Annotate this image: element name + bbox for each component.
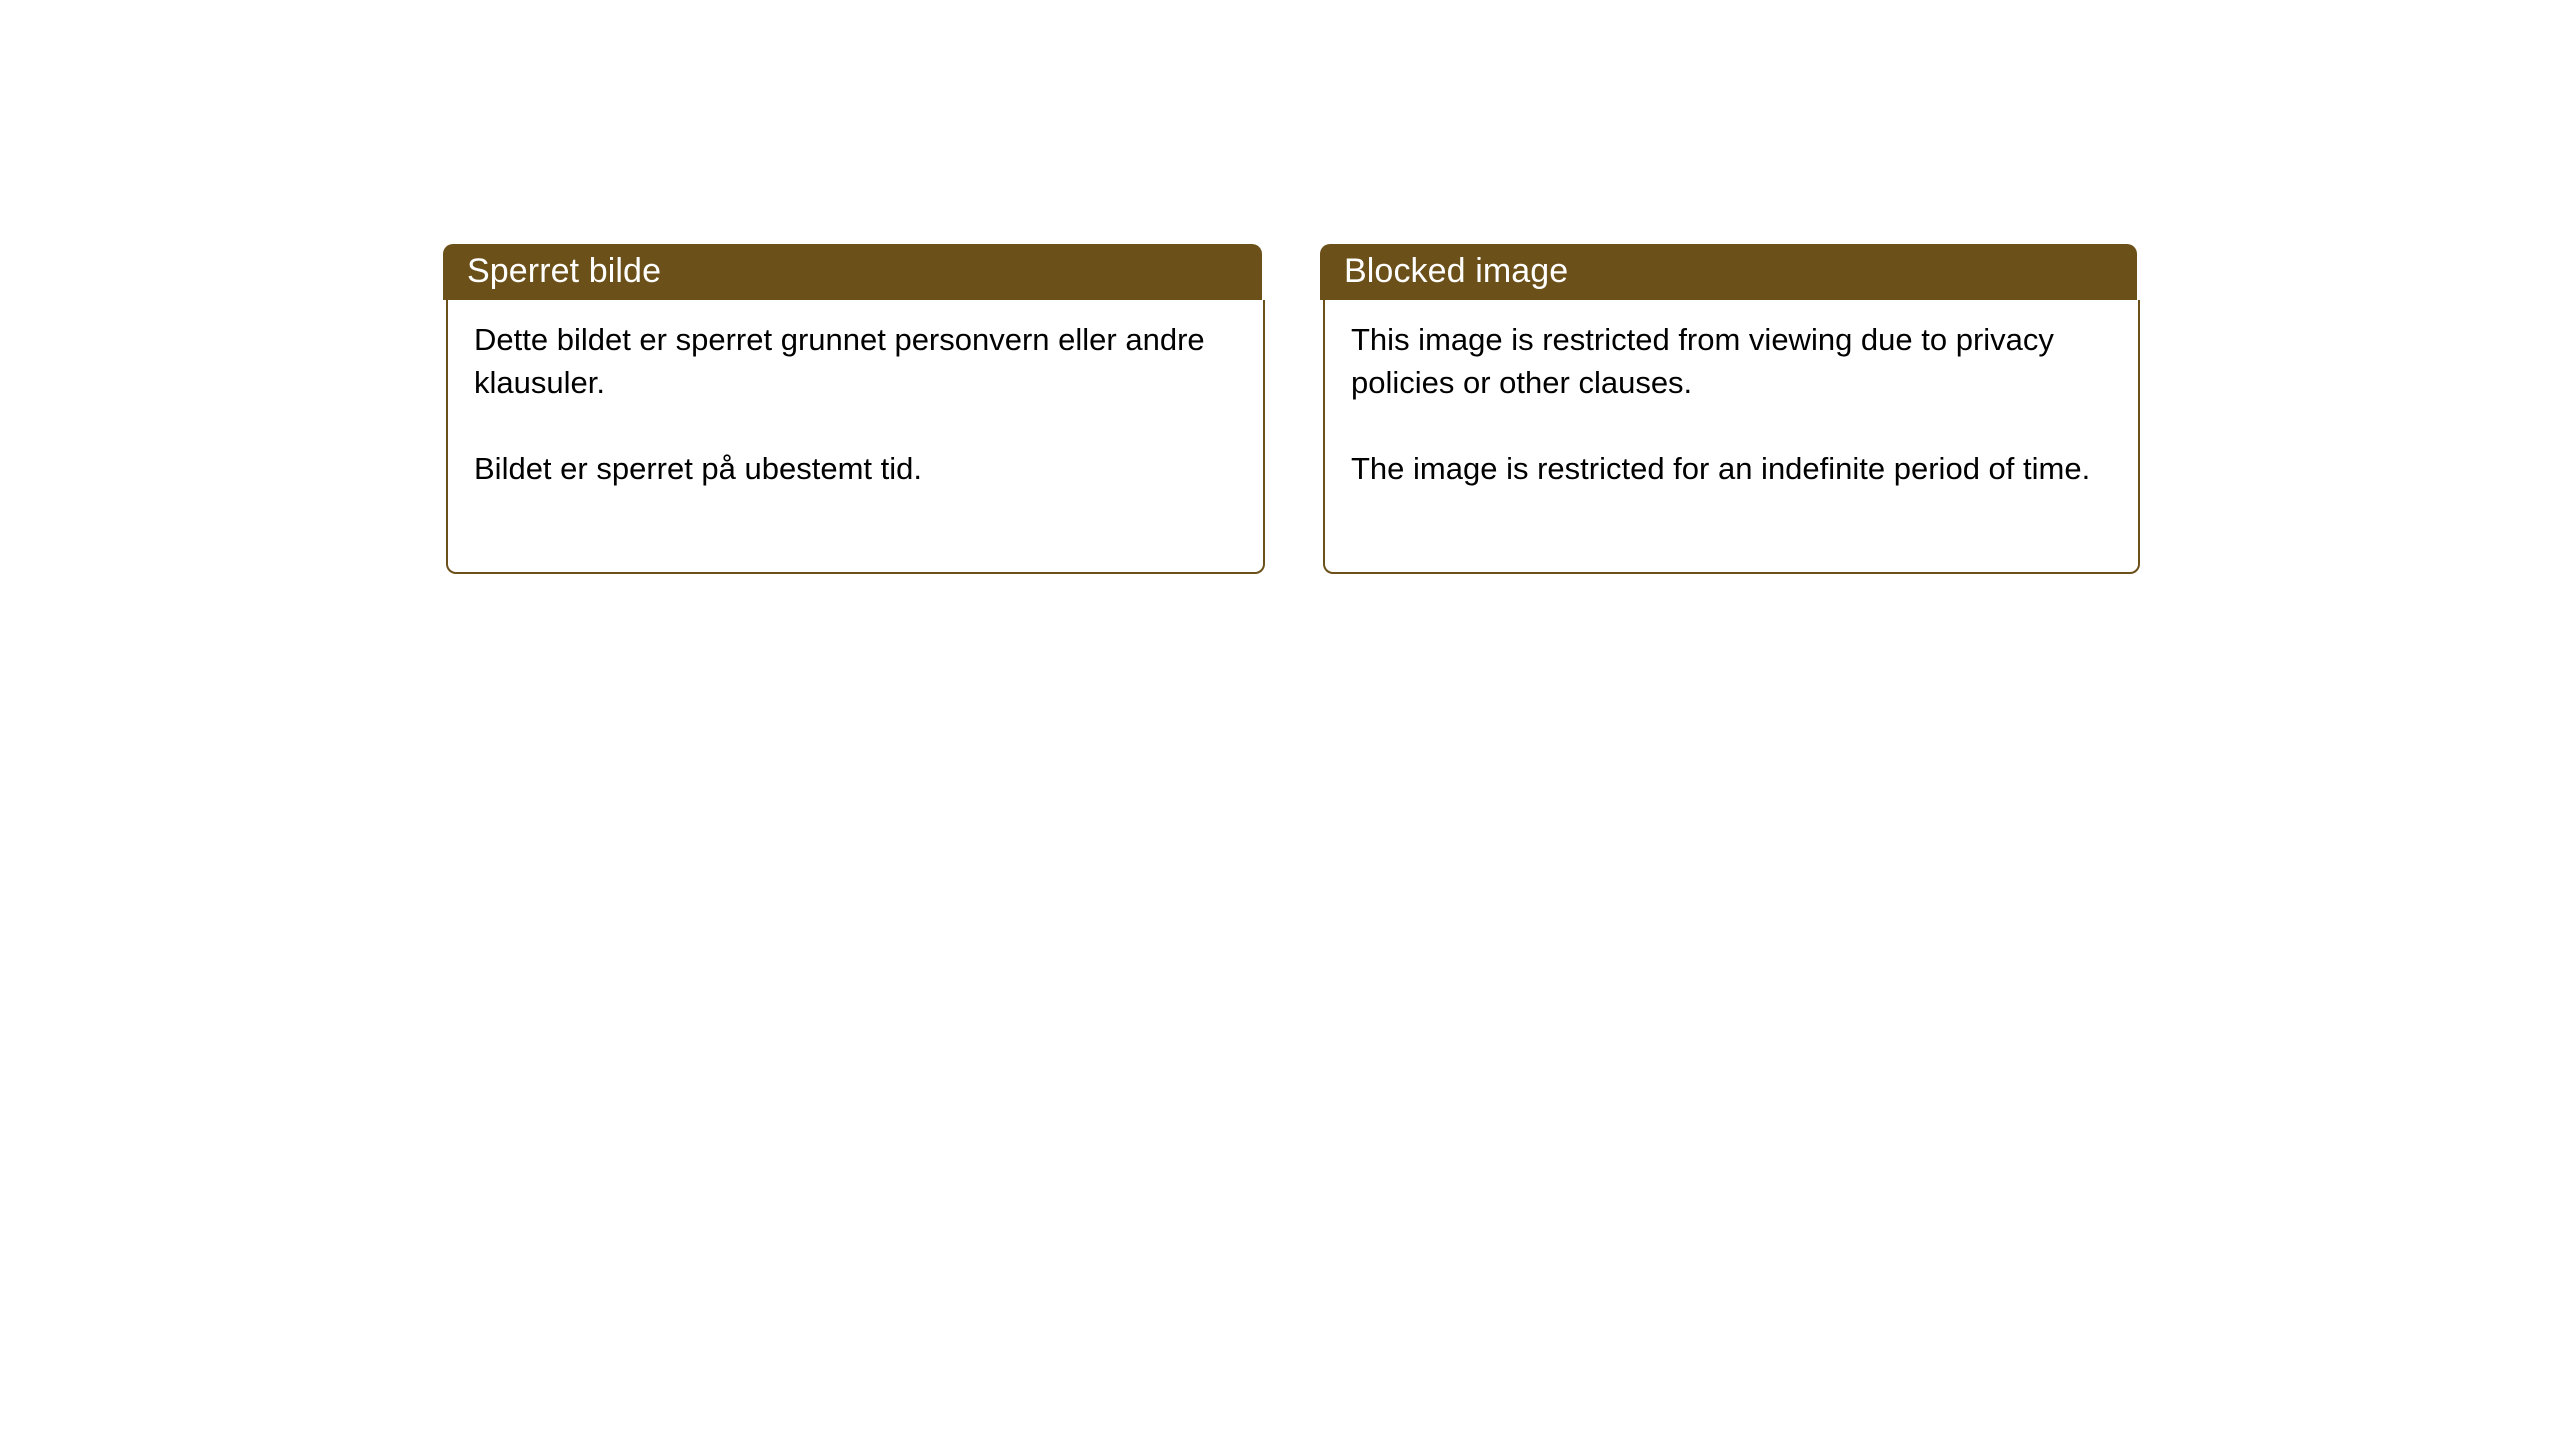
card-body-en: This image is restricted from viewing du… xyxy=(1323,300,2140,574)
card-header-bar-en: Blocked image xyxy=(1320,244,2137,300)
card-title-no: Sperret bilde xyxy=(443,254,661,290)
card-paragraph-reason-en: This image is restricted from viewing du… xyxy=(1351,318,2112,404)
card-title-en: Blocked image xyxy=(1320,254,1568,290)
blocked-image-notice-card-no: Sperret bilde Dette bildet er sperret gr… xyxy=(443,244,1265,574)
page-canvas: Sperret bilde Dette bildet er sperret gr… xyxy=(0,0,2560,1440)
blocked-image-notice-card-en: Blocked image This image is restricted f… xyxy=(1320,244,2140,574)
card-paragraph-duration-en: The image is restricted for an indefinit… xyxy=(1351,447,2112,490)
card-header-bar-no: Sperret bilde xyxy=(443,244,1262,300)
card-paragraph-duration-no: Bildet er sperret på ubestemt tid. xyxy=(474,447,1237,490)
card-paragraph-reason-no: Dette bildet er sperret grunnet personve… xyxy=(474,318,1237,404)
card-body-no: Dette bildet er sperret grunnet personve… xyxy=(446,300,1265,574)
